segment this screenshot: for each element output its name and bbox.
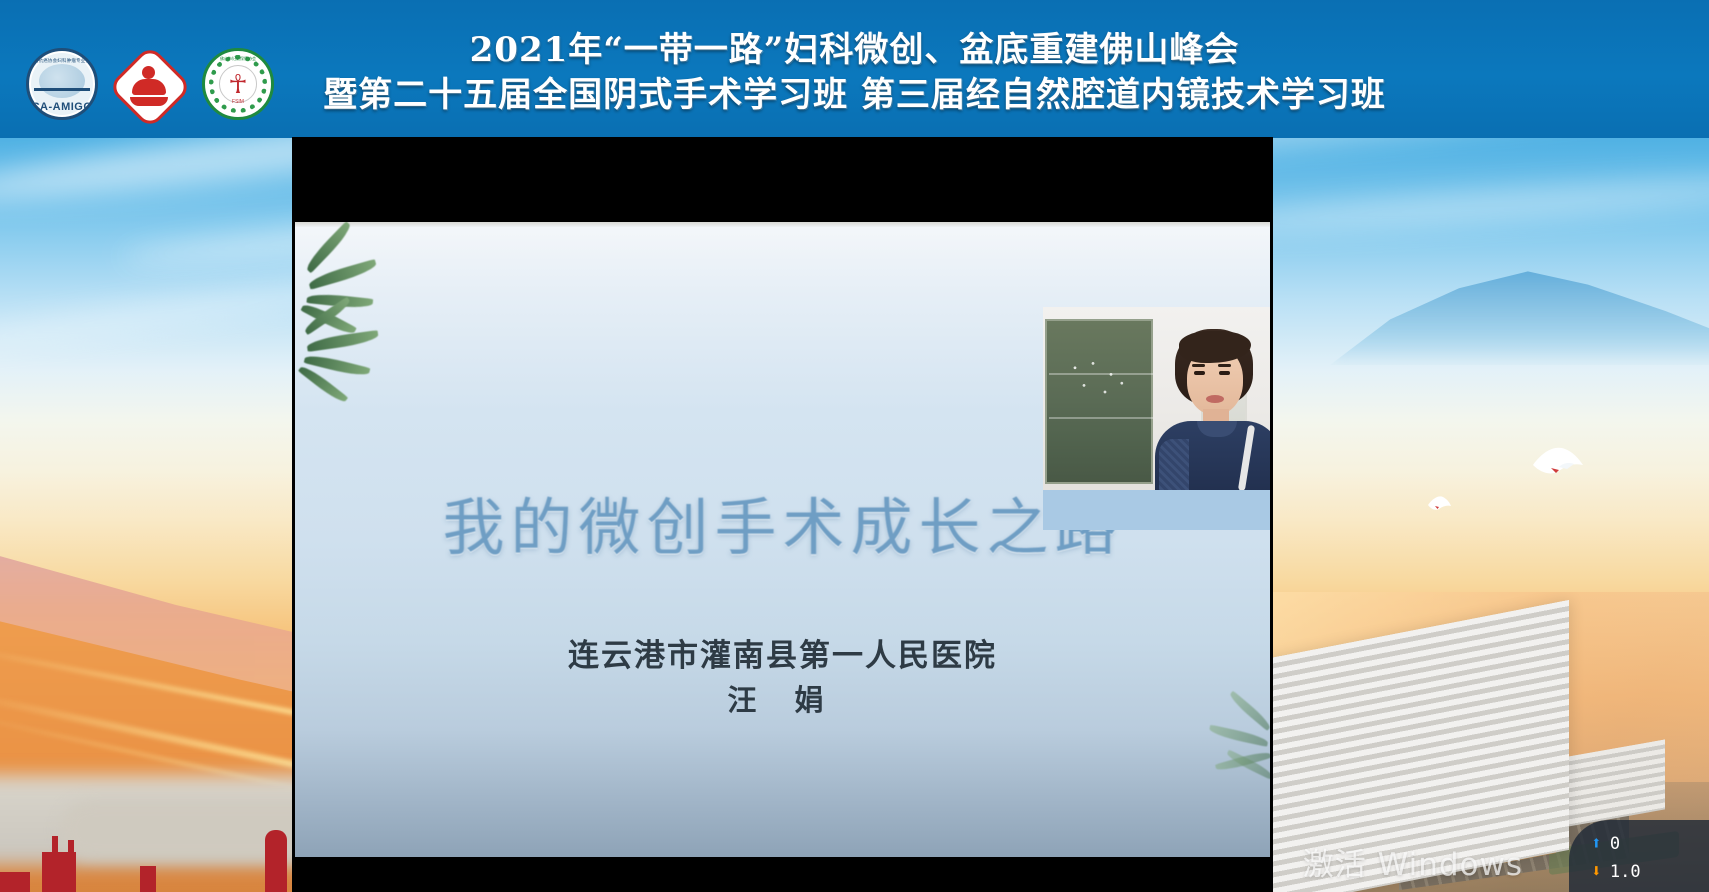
video-player[interactable]: 我的微创手术成长之路 连云港市灌南县第一人民医院 汪 娟 bbox=[292, 137, 1273, 892]
glass-cabinet bbox=[1045, 319, 1153, 484]
slide-blue-panel bbox=[1043, 490, 1270, 530]
bamboo-leaf-decoration-bottom bbox=[1156, 709, 1270, 839]
slide-organization: 连云港市灌南县第一人民医院 bbox=[295, 630, 1270, 675]
slide-presenter-name: 汪 娟 bbox=[295, 677, 1270, 719]
arrow-up-icon: ⬆ bbox=[1591, 830, 1602, 858]
dove-icon bbox=[1529, 441, 1585, 479]
windows-activation-watermark: 激活 Windows bbox=[1303, 839, 1523, 884]
event-title-line-1: 2021年“一带一路”妇科微创、盆底重建佛山峰会 bbox=[0, 28, 1709, 73]
presenter-figure bbox=[1159, 329, 1270, 490]
screen-root: 中国抗癌协会妇科肿瘤专业委员会 CA-AMIGO 佛山市妇幼保健协会 ☥ FSI… bbox=[0, 0, 1709, 892]
arrow-down-icon: ⬇ bbox=[1591, 858, 1602, 886]
network-speed-widget[interactable]: ⬆ 0 ⬇ 1.0 bbox=[1569, 820, 1709, 892]
event-title: 2021年“一带一路”妇科微创、盆底重建佛山峰会 暨第二十五届全国阴式手术学习班… bbox=[0, 28, 1709, 118]
download-speed-row: ⬇ 1.0 bbox=[1591, 858, 1707, 886]
slide-top-edge bbox=[295, 222, 1270, 227]
city-silhouette bbox=[0, 838, 300, 892]
download-speed-value: 1.0 bbox=[1610, 859, 1641, 885]
upload-speed-value: 0 bbox=[1610, 831, 1620, 857]
dove-icon bbox=[1426, 494, 1452, 512]
event-header-banner: 中国抗癌协会妇科肿瘤专业委员会 CA-AMIGO 佛山市妇幼保健协会 ☥ FSI… bbox=[0, 0, 1709, 138]
event-title-line-2: 暨第二十五届全国阴式手术学习班 第三届经自然腔道内镜技术学习班 bbox=[0, 73, 1709, 118]
presentation-slide: 我的微创手术成长之路 连云港市灌南县第一人民医院 汪 娟 bbox=[295, 222, 1270, 857]
presenter-webcam[interactable] bbox=[1043, 307, 1270, 490]
upload-speed-row: ⬆ 0 bbox=[1591, 830, 1707, 858]
blue-mountain-shape bbox=[1330, 245, 1709, 365]
bamboo-leaf-decoration bbox=[299, 244, 419, 414]
